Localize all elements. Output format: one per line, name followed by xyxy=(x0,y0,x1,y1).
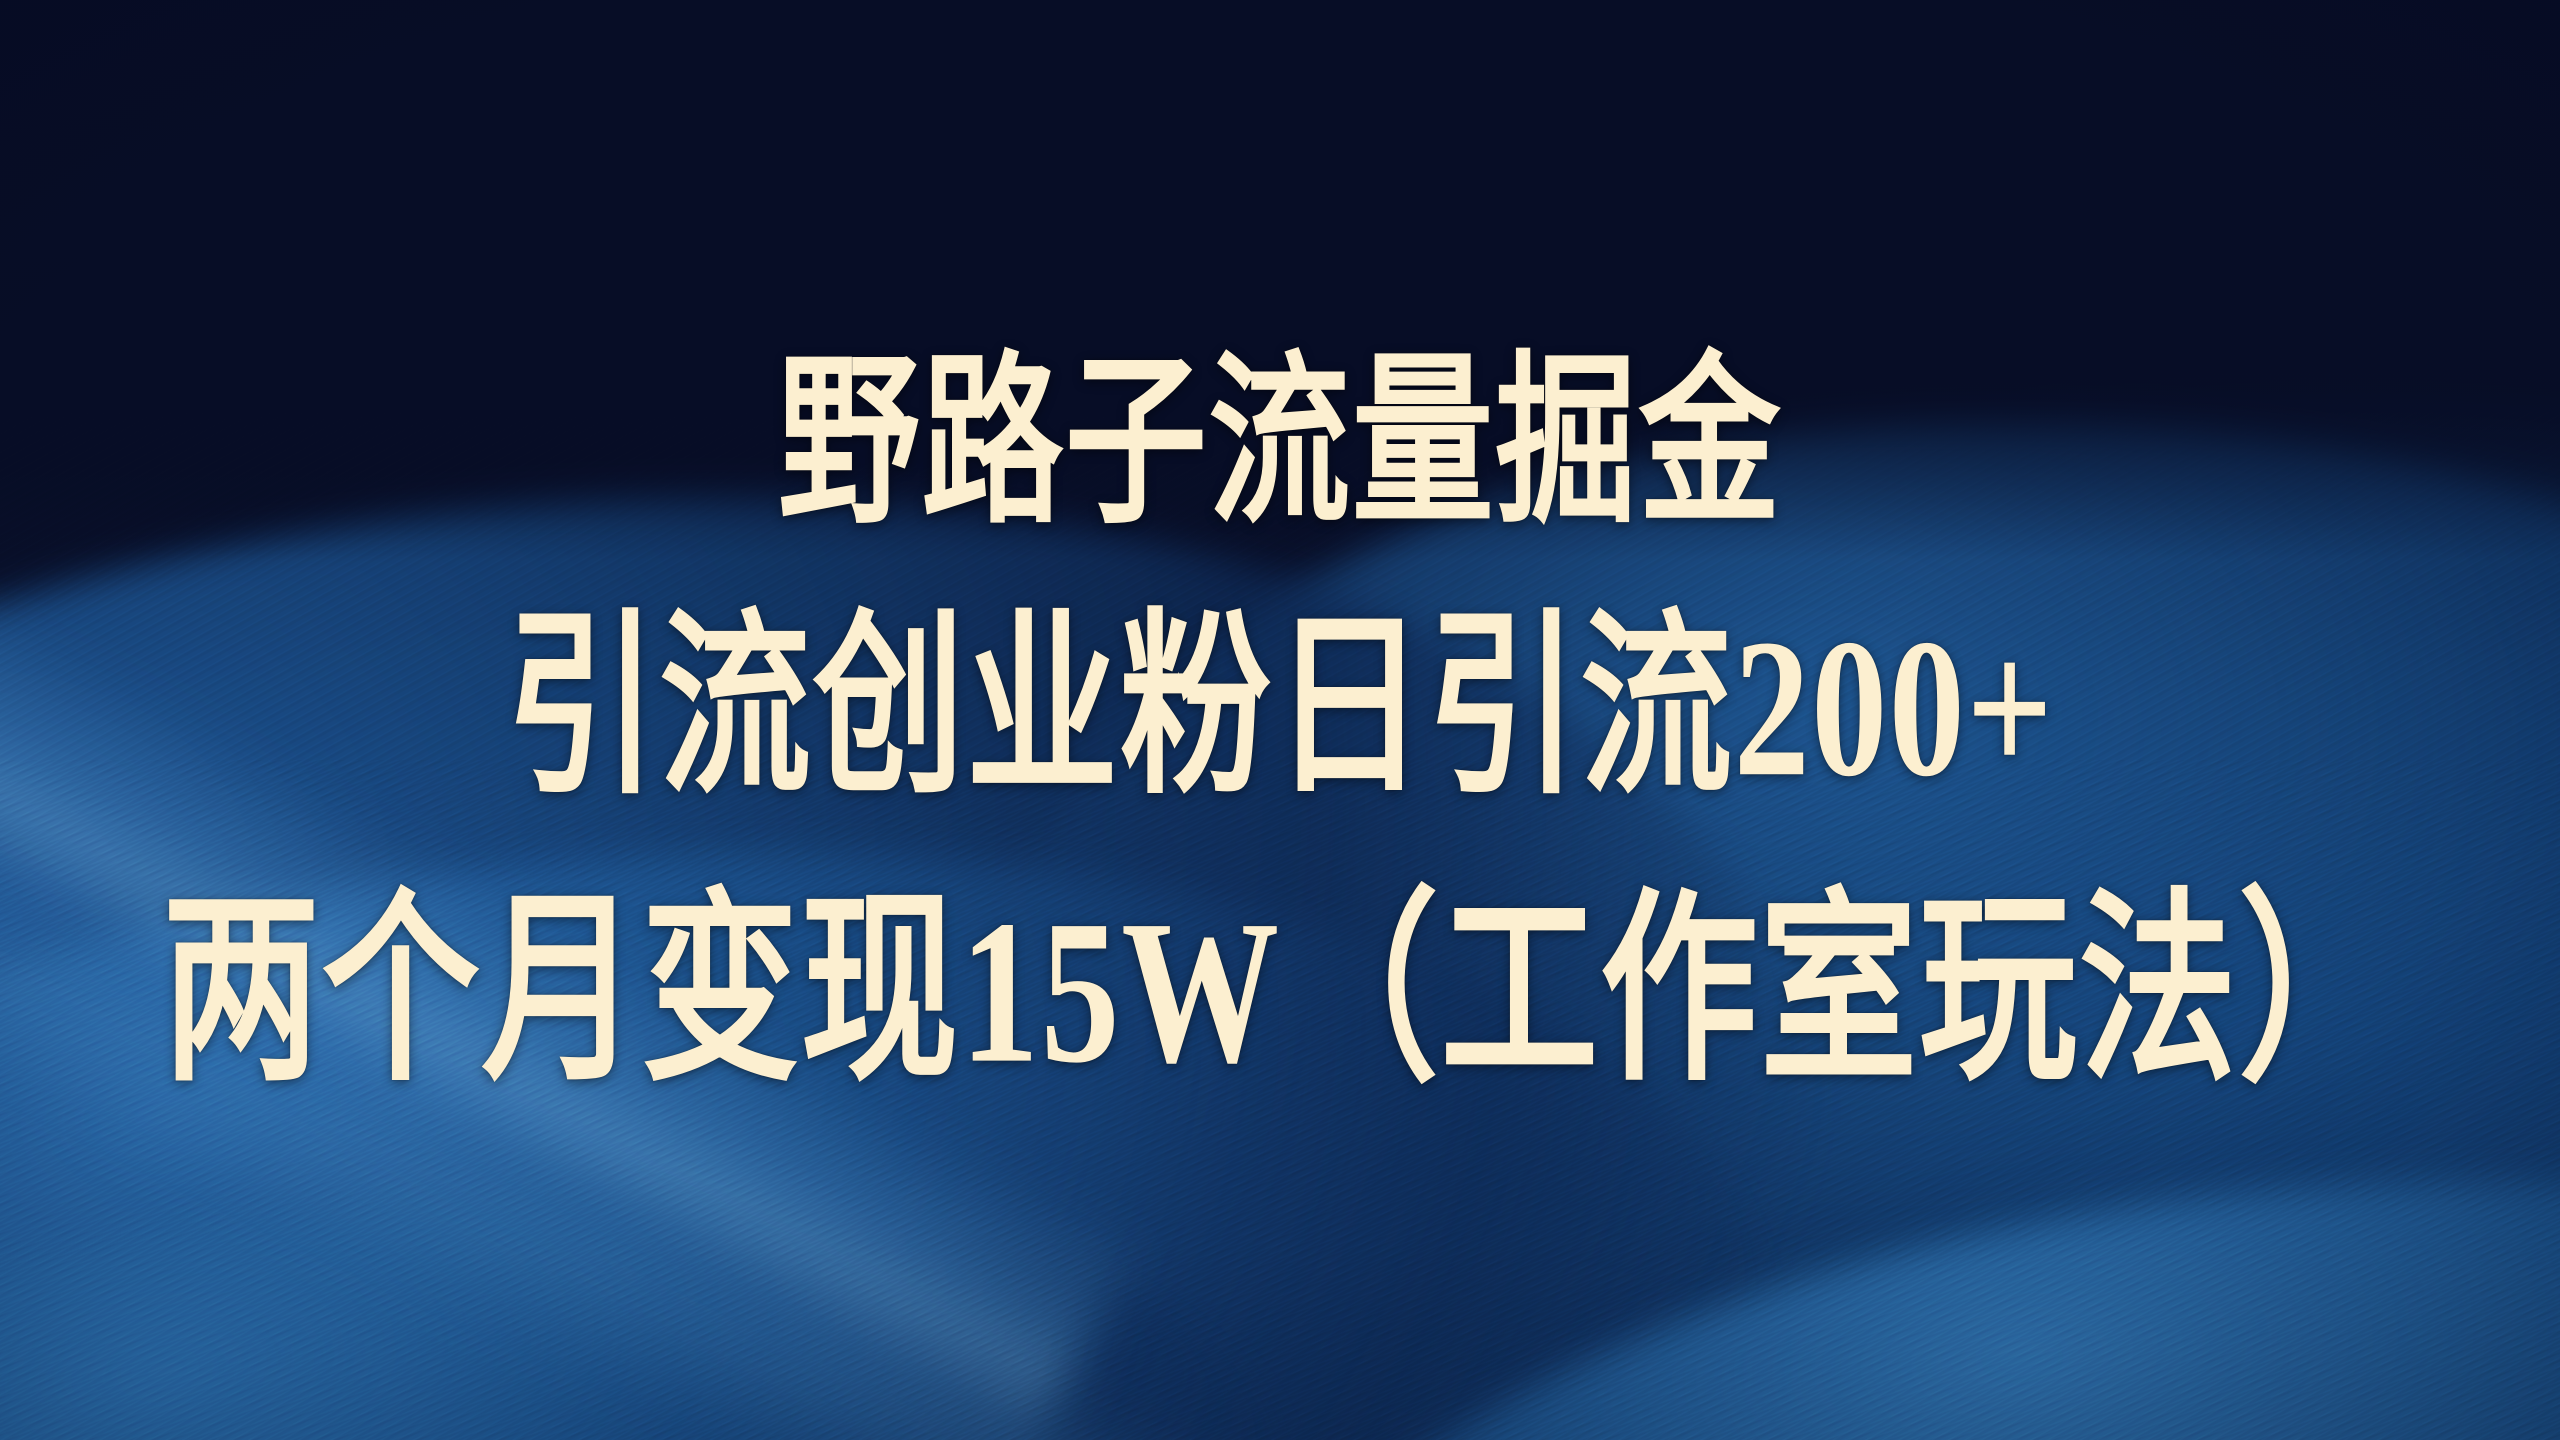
headline-block: 野路子流量掘金 引流创业粉日引流200+ 两个月变现15W（工作室玩法） xyxy=(0,0,2560,1440)
poster-canvas: 野路子流量掘金 引流创业粉日引流200+ 两个月变现15W（工作室玩法） xyxy=(0,0,2560,1440)
headline-line-3: 两个月变现15W（工作室玩法） xyxy=(162,890,2398,1095)
headline-line-2: 引流创业粉日引流200+ xyxy=(506,609,2055,807)
headline-line-1: 野路子流量掘金 xyxy=(778,351,1782,536)
